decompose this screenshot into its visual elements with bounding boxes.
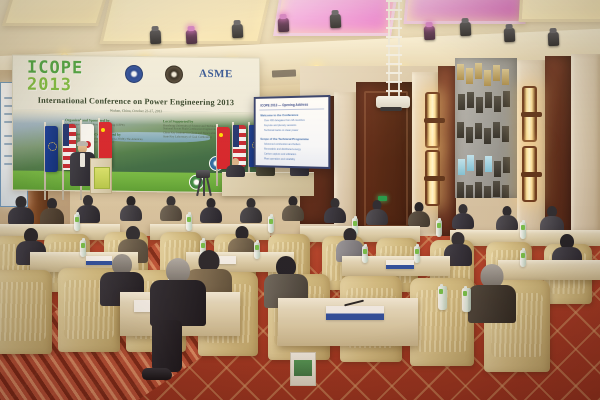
audience-shoulders	[8, 207, 34, 225]
audience-shoulders	[496, 215, 518, 231]
delegate-handout	[386, 260, 414, 269]
decorative-metal-panel	[455, 58, 517, 198]
panelist-torso	[226, 165, 245, 177]
water-bottle	[520, 222, 526, 239]
asme-wordmark: ASME	[199, 68, 233, 80]
wall-sconce	[425, 150, 440, 206]
audience-member	[282, 196, 304, 220]
water-bottle	[436, 220, 442, 237]
conference-tote-bag	[290, 352, 316, 386]
audience-member	[468, 264, 516, 318]
audience-member	[452, 204, 474, 228]
banner-title: International Conference on Power Engine…	[13, 95, 259, 107]
water-bottle	[520, 250, 526, 267]
speaker-shirt	[80, 153, 85, 167]
slide-section1-heading: Welcome to the Conference	[260, 113, 298, 117]
track-spotlight	[504, 28, 516, 42]
track-spotlight	[548, 32, 560, 46]
wall-sconce	[522, 86, 537, 142]
flag-eu	[45, 126, 58, 172]
lighting-truss	[386, 0, 402, 110]
audience-shoulders	[468, 285, 516, 323]
audience-member	[324, 198, 346, 222]
track-spotlight-magenta	[186, 30, 198, 44]
video-camera-tripod	[196, 170, 210, 196]
ceiling-panel-warm-1	[2, 0, 118, 26]
slide-section1-bullet: Technical tracks on clean power	[264, 129, 298, 132]
lectern-sign	[94, 167, 110, 189]
track-spotlight-magenta	[278, 18, 290, 32]
audience-shoulders	[240, 207, 262, 223]
audience-shoulders	[200, 207, 222, 223]
water-bottle	[186, 214, 192, 231]
audience-member	[40, 198, 64, 224]
water-bottle	[414, 246, 420, 263]
slide-section2-bullet: Advanced combustion and boilers	[264, 143, 300, 146]
audience-shoulders	[282, 205, 304, 221]
audience-trousers	[152, 320, 182, 372]
audience-shoulders	[366, 209, 388, 225]
track-spotlight-magenta	[424, 26, 436, 40]
water-bottle	[254, 242, 260, 259]
track-spotlight	[330, 14, 342, 28]
delegate-handout	[326, 306, 384, 320]
flag-china	[217, 127, 230, 169]
icope-logo: ICOPE 2013	[27, 60, 99, 91]
slide-section2-bullet: Plant operation and reliability	[264, 157, 295, 161]
audience-member	[160, 196, 182, 220]
audience-member-aisle	[150, 258, 206, 318]
audience-shoe	[142, 368, 172, 380]
marble-pilaster	[571, 54, 600, 238]
audience-member	[200, 198, 222, 222]
audience-member	[540, 206, 564, 232]
water-bottle	[362, 246, 368, 263]
water-bottle	[268, 216, 274, 233]
audience-member	[8, 196, 34, 222]
track-spotlight	[460, 22, 472, 36]
projection-screen-surface: ICOPE 2013 — Opening Address Welcome to …	[256, 97, 329, 167]
audience-shoulders	[120, 205, 142, 221]
icope-logo-line2: 2013	[27, 77, 99, 95]
ceiling-panel-warm-3	[519, 0, 600, 22]
slide-section1-bullet: Keynote and plenary sessions	[264, 124, 296, 127]
slide-section1-bullet: Over 400 delegates from 18 countries	[264, 119, 305, 122]
audience-shoulders	[324, 207, 346, 223]
cspe-seal-icon	[125, 65, 143, 83]
slide-section2-bullet: Carbon capture and utilization	[264, 153, 296, 157]
audience-shoulders	[160, 205, 182, 221]
jsme-seal-icon	[165, 65, 183, 83]
audience-member	[240, 198, 262, 222]
audience-member	[120, 196, 142, 220]
audience-member	[366, 200, 388, 224]
audience-shoulders	[408, 211, 430, 227]
audience-shoulders	[452, 213, 474, 229]
water-bottle	[74, 214, 80, 231]
audience-member	[264, 256, 308, 304]
water-bottle	[80, 240, 86, 257]
water-bottle	[438, 286, 447, 310]
banquet-chair	[0, 270, 52, 354]
wall-sconce	[522, 146, 537, 202]
speaker-hair	[77, 141, 88, 146]
water-bottle	[462, 288, 471, 312]
ceiling-projector	[376, 96, 410, 108]
slide-divider	[259, 108, 324, 110]
video-camera	[196, 170, 210, 178]
slide-title: ICOPE 2013 — Opening Address	[260, 103, 308, 108]
slide-section2-bullet: Renewable and distributed energy	[264, 148, 301, 151]
slide-section2-heading: Scope of the Technical Programme	[260, 137, 309, 141]
audience-member	[496, 206, 518, 230]
wall-sconce	[425, 92, 440, 148]
ceiling-vent	[272, 69, 296, 77]
track-spotlight	[232, 24, 244, 38]
track-spotlight	[150, 30, 162, 44]
audience-member	[408, 202, 430, 226]
conference-hall-photo: ICOPE 2013 ASME International Conference…	[0, 0, 600, 400]
lectern	[90, 158, 112, 194]
main-projection-screen: ICOPE 2013 — Opening Address Welcome to …	[254, 95, 331, 169]
